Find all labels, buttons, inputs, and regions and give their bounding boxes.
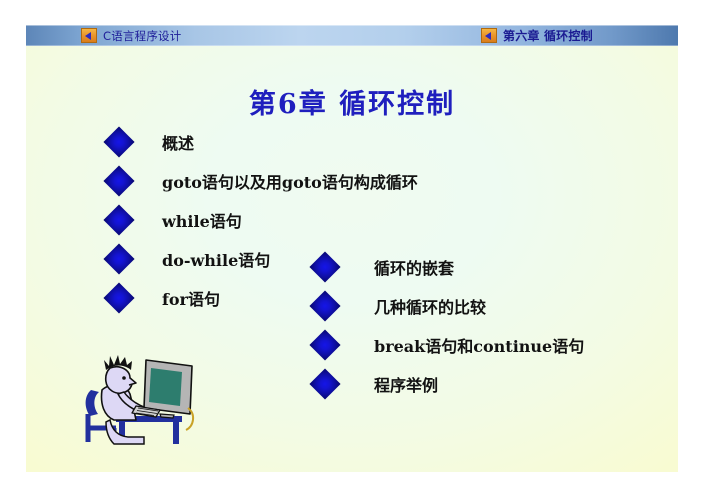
list-item-label: goto语句以及用goto语句构成循环	[162, 169, 418, 193]
list-item-label: for语句	[162, 286, 220, 310]
list-item[interactable]: do-while语句	[108, 247, 270, 271]
page-title: 第6章 循环控制	[26, 82, 678, 121]
list-item[interactable]: break语句和continue语句	[314, 333, 584, 357]
list-item[interactable]: for语句	[108, 286, 220, 310]
diamond-bullet-icon	[309, 290, 340, 321]
list-item-label: 循环的嵌套	[374, 255, 454, 279]
header-left-group: C语言程序设计	[81, 25, 181, 46]
diamond-bullet-icon	[309, 368, 340, 399]
list-item-label: 概述	[162, 130, 194, 154]
list-item[interactable]: while语句	[108, 208, 242, 232]
list-item[interactable]: 几种循环的比较	[314, 294, 486, 318]
list-item-label: 几种循环的比较	[374, 294, 486, 318]
back-triangle-icon	[81, 28, 97, 43]
list-item-label: 程序举例	[374, 372, 438, 396]
list-item-label: while语句	[162, 208, 242, 232]
list-item-label: do-while语句	[162, 247, 270, 271]
slide-header-bar: C语言程序设计 第六章 循环控制	[26, 25, 678, 46]
diamond-bullet-icon	[103, 204, 134, 235]
list-item[interactable]: 循环的嵌套	[314, 255, 454, 279]
list-item-label: break语句和continue语句	[374, 333, 584, 357]
diamond-bullet-icon	[103, 282, 134, 313]
list-item[interactable]: 程序举例	[314, 372, 438, 396]
diamond-bullet-icon	[309, 329, 340, 360]
list-item[interactable]: 概述	[108, 130, 194, 154]
header-right-group: 第六章 循环控制	[481, 25, 593, 46]
header-chapter-title: 第六章 循环控制	[503, 27, 593, 44]
diamond-bullet-icon	[103, 126, 134, 157]
diamond-bullet-icon	[103, 243, 134, 274]
diamond-bullet-icon	[103, 165, 134, 196]
bullet-list-right: 循环的嵌套 几种循环的比较 break语句和continue语句 程序举例	[314, 255, 664, 425]
list-item[interactable]: goto语句以及用goto语句构成循环	[108, 169, 418, 193]
person-at-computer-illustration	[74, 338, 214, 448]
back-triangle-icon-right	[481, 28, 497, 43]
slide-canvas: C语言程序设计 第六章 循环控制 第6章 循环控制 概述 goto语句以及用go…	[26, 25, 678, 472]
diamond-bullet-icon	[309, 251, 340, 282]
header-course-title: C语言程序设计	[103, 28, 181, 44]
